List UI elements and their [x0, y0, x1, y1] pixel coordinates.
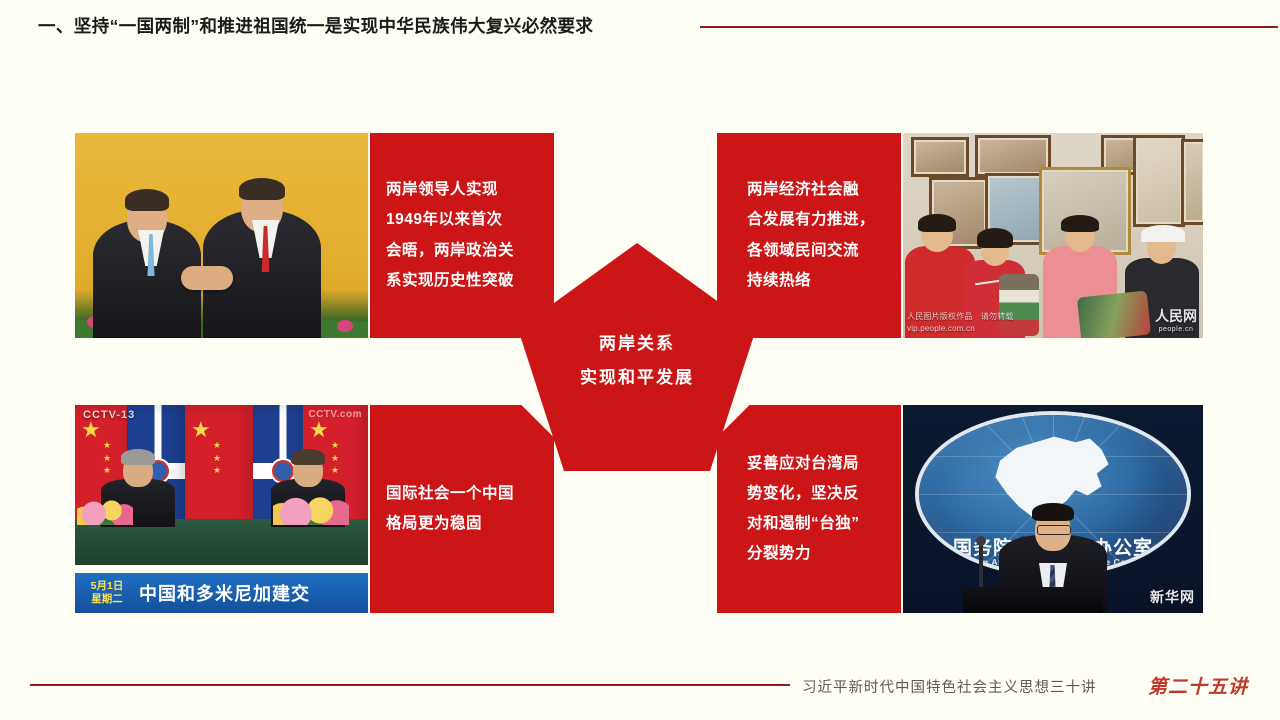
callout-bottom-left-text: 国际社会一个中国 格局更为稳固 — [370, 479, 554, 539]
peoples-daily-logo-text: 人民网 — [1155, 308, 1197, 324]
student-hair — [977, 228, 1013, 248]
microphone-icon — [979, 543, 983, 587]
footer-divider — [30, 684, 790, 686]
student-hair — [1061, 215, 1099, 232]
footer-lecture-number: 第二十五讲 — [1148, 672, 1248, 699]
leader-right-hair — [239, 178, 285, 200]
pentagon-diagram: 两岸领导人实现 1949年以来首次 会晤，两岸政治关 系实现历史性突破 两岸经济… — [0, 0, 1280, 720]
photo-watermark-line1: 人民图片版权作品 请勿转载 — [907, 311, 1014, 322]
china-flag — [185, 405, 257, 537]
photo-tao-press-conference: 国务院台湾事务办公室 Taiwan Affairs Office of the … — [903, 405, 1203, 613]
photo-leaders-handshake — [75, 133, 368, 338]
photo-diplomatic-signing: CCTV-13 CCTV.com 5月1日 星期二 中国和多米尼加建交 — [75, 405, 368, 613]
news-chyron: 5月1日 星期二 中国和多米尼加建交 — [75, 573, 368, 613]
student-cap — [1141, 225, 1185, 242]
xinhua-logo: 新华网 — [1150, 587, 1195, 607]
podium — [963, 587, 1103, 613]
chyron-date: 5月1日 星期二 — [75, 580, 139, 606]
cctv-site-bug: CCTV.com — [308, 409, 362, 420]
wall-frame — [1181, 139, 1203, 225]
glasses-icon — [1037, 525, 1071, 535]
peoples-daily-logo-sub: people.cn — [1155, 326, 1197, 333]
student-hair — [918, 214, 956, 232]
wall-frame — [911, 137, 969, 177]
peoples-daily-logo: 人民网 people.cn — [1155, 306, 1197, 333]
center-pentagon: 两岸关系 实现和平发展 — [518, 243, 756, 471]
wall-frame — [1133, 135, 1185, 227]
photo-youth-exchange: 人民图片版权作品 请勿转载 vip.people.com.cn 人民网 peop… — [903, 133, 1203, 338]
pentagon-shape — [518, 243, 756, 471]
photo-watermark-line2: vip.people.com.cn — [907, 324, 975, 333]
flower-arrangement — [77, 497, 133, 525]
cctv-channel-bug: CCTV-13 — [83, 409, 135, 421]
leader-left-hair — [125, 189, 169, 211]
chyron-headline: 中国和多米尼加建交 — [139, 580, 310, 606]
puppet-figure — [999, 274, 1039, 336]
puppet-dragon — [1077, 290, 1151, 338]
flower-arrangement — [273, 497, 349, 525]
footer-series-title: 习近平新时代中国特色社会主义思想三十讲 — [802, 676, 1097, 697]
handshake-icon — [181, 266, 233, 290]
